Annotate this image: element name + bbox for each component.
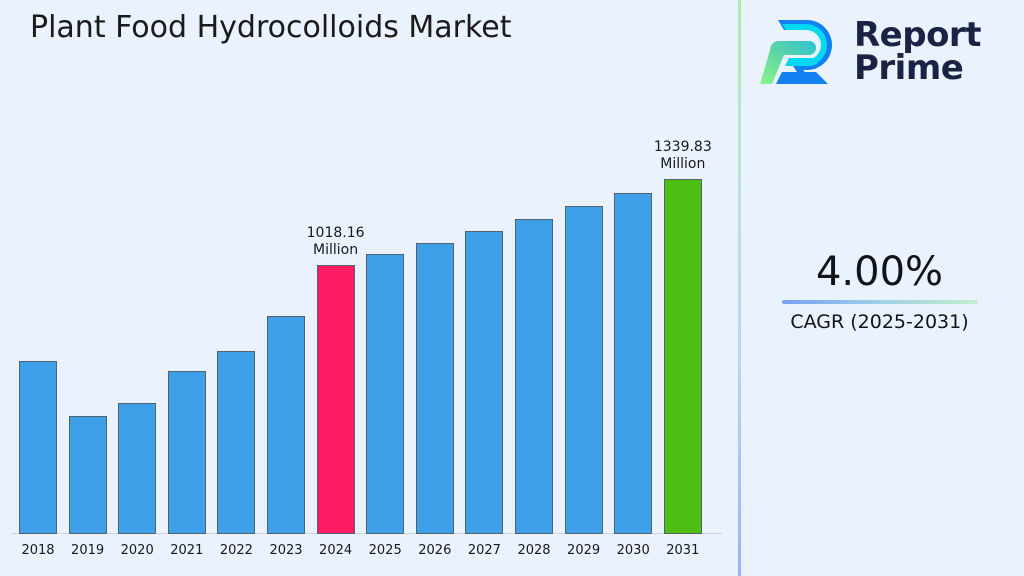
bar-2020[interactable] [118, 403, 156, 534]
bar-2025[interactable] [366, 254, 404, 534]
x-tick-label-2030: 2030 [609, 543, 657, 558]
x-tick-label-2024: 2024 [312, 543, 360, 558]
x-tick-label-2027: 2027 [460, 543, 508, 558]
bar-chart-plot-area: 2018201920202021202220231018.16 Million2… [0, 0, 738, 576]
x-tick-label-2023: 2023 [262, 543, 310, 558]
bar-2018[interactable] [19, 361, 57, 534]
cagr-block: 4.00% CAGR (2025-2031) [738, 248, 1021, 334]
x-tick-label-2022: 2022 [212, 543, 260, 558]
bar-2030[interactable] [614, 193, 652, 534]
cagr-divider-rule [782, 300, 978, 304]
x-tick-label-2018: 2018 [14, 543, 62, 558]
bar-value-label-2031: 1339.83 Million [628, 139, 738, 173]
bar-2022[interactable] [217, 351, 255, 534]
x-tick-label-2025: 2025 [361, 543, 409, 558]
x-tick-label-2020: 2020 [113, 543, 161, 558]
bar-2027[interactable] [465, 231, 503, 534]
bar-2023[interactable] [267, 316, 305, 534]
chart-panel: Plant Food Hydrocolloids Market 20182019… [0, 0, 738, 576]
x-tick-label-2026: 2026 [411, 543, 459, 558]
brand-wordmark: Report Prime [854, 19, 981, 86]
x-tick-label-2021: 2021 [163, 543, 211, 558]
bar-2021[interactable] [168, 371, 206, 534]
page-root: Plant Food Hydrocolloids Market 20182019… [0, 0, 1024, 576]
bar-2031[interactable] [664, 179, 702, 534]
bar-2024[interactable] [317, 265, 355, 534]
brand-logo: Report Prime [760, 14, 981, 90]
x-tick-label-2019: 2019 [64, 543, 112, 558]
report-prime-logo-icon [760, 14, 842, 90]
cagr-value: 4.00% [738, 248, 1021, 296]
x-tick-label-2028: 2028 [510, 543, 558, 558]
x-tick-label-2029: 2029 [560, 543, 608, 558]
x-tick-label-2031: 2031 [659, 543, 707, 558]
brand-panel: Report Prime 4.00% CAGR (2025-2031) [738, 0, 1021, 576]
bar-2029[interactable] [565, 206, 603, 534]
cagr-caption: CAGR (2025-2031) [738, 310, 1021, 334]
bar-2019[interactable] [69, 416, 107, 534]
bar-2026[interactable] [416, 243, 454, 534]
brand-name-line2: Prime [854, 52, 981, 85]
bar-2028[interactable] [515, 219, 553, 534]
